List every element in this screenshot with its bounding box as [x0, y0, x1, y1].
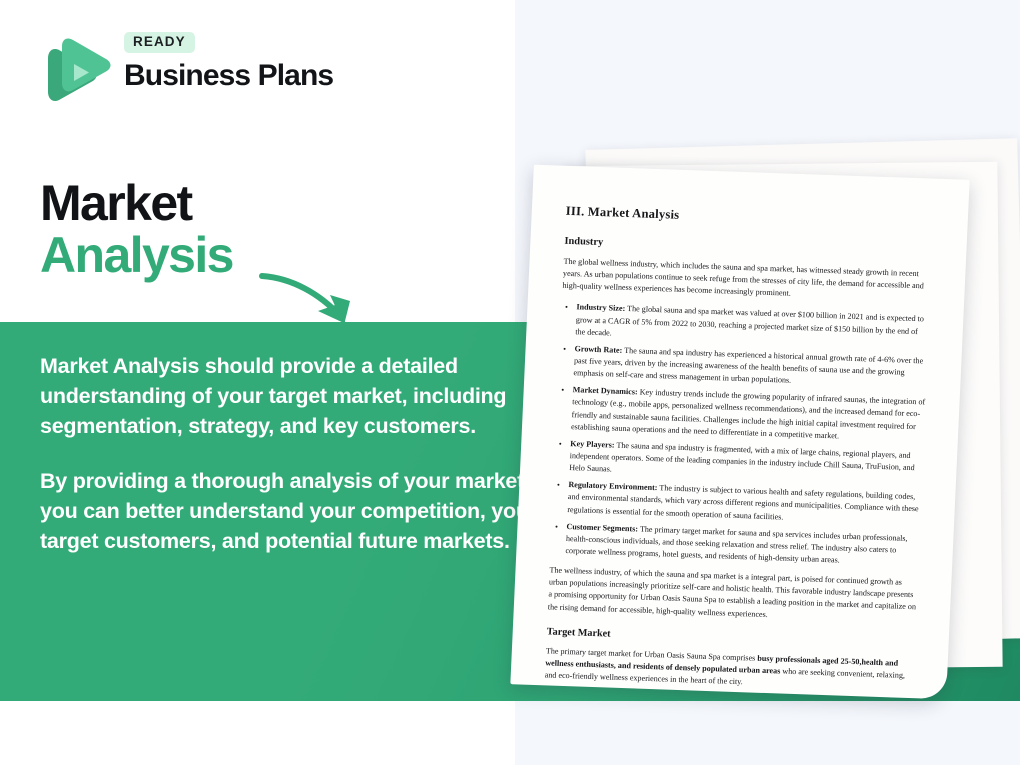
- doc-bullet-list: Industry Size: The global sauna and spa …: [550, 301, 929, 569]
- doc-bullet-label: Market Dynamics:: [573, 385, 638, 396]
- brand-logo-text: READY Business Plans: [124, 32, 364, 91]
- doc-title: III. Market Analysis: [565, 204, 933, 232]
- doc-bullet-label: Customer Segments:: [566, 522, 638, 533]
- play-triangle-logo-icon: [40, 36, 114, 110]
- doc-bullet-growth-rate: Growth Rate: The sauna and spa industry …: [573, 343, 927, 392]
- doc-target-bold-a: busy professionals aged 25-50,: [757, 653, 862, 666]
- doc-closing-paragraph: The wellness industry, of which the saun…: [548, 565, 918, 626]
- doc-bullet-industry-size: Industry Size: The global sauna and spa …: [575, 302, 929, 351]
- description-paragraph-1: Market Analysis should provide a detaile…: [40, 352, 555, 441]
- doc-bullet-customer-segments: Customer Segments: The primary target ma…: [565, 521, 919, 570]
- doc-bullet-text: The sauna and spa industry is fragmented…: [569, 440, 915, 473]
- page-title-line2: Analysis: [40, 230, 233, 281]
- doc-bullet-regulatory-environment: Regulatory Environment: The industry is …: [567, 479, 921, 528]
- doc-bullet-label: Key Players:: [570, 439, 615, 450]
- brand-logo[interactable]: READY Business Plans: [40, 32, 340, 116]
- description-paragraph-2: By providing a thorough analysis of your…: [40, 467, 555, 556]
- doc-bullet-key-players: Key Players: The sauna and spa industry …: [569, 438, 923, 487]
- page-title: Market Analysis: [40, 178, 233, 281]
- curved-arrow-down-right-icon: [258, 268, 370, 334]
- brand-name: Business Plans: [124, 60, 364, 92]
- document-stack: III. Market Analysis Industry The global…: [520, 100, 1020, 680]
- doc-intro-paragraph: The global wellness industry, which incl…: [562, 256, 931, 305]
- doc-bullet-label: Industry Size:: [576, 303, 625, 314]
- doc-bullet-market-dynamics: Market Dynamics: Key industry trends inc…: [571, 384, 926, 445]
- doc-target-market-paragraph: The primary target market for Urban Oasi…: [544, 645, 913, 694]
- page-title-line1: Market: [40, 178, 233, 229]
- description-copy: Market Analysis should provide a detaile…: [40, 352, 555, 557]
- doc-bullet-text: The sauna and spa industry has experienc…: [573, 346, 923, 385]
- doc-bullet-label: Regulatory Environment:: [568, 480, 657, 492]
- doc-bullet-text: The global sauna and spa market was valu…: [575, 304, 924, 337]
- doc-section-heading-industry: Industry: [564, 236, 932, 260]
- ready-badge: READY: [124, 32, 195, 53]
- slide-canvas: READY Business Plans Market Analysis Mar…: [0, 0, 1020, 765]
- document-sheet-front[interactable]: III. Market Analysis Industry The global…: [510, 165, 969, 700]
- doc-bullet-label: Growth Rate:: [574, 344, 622, 355]
